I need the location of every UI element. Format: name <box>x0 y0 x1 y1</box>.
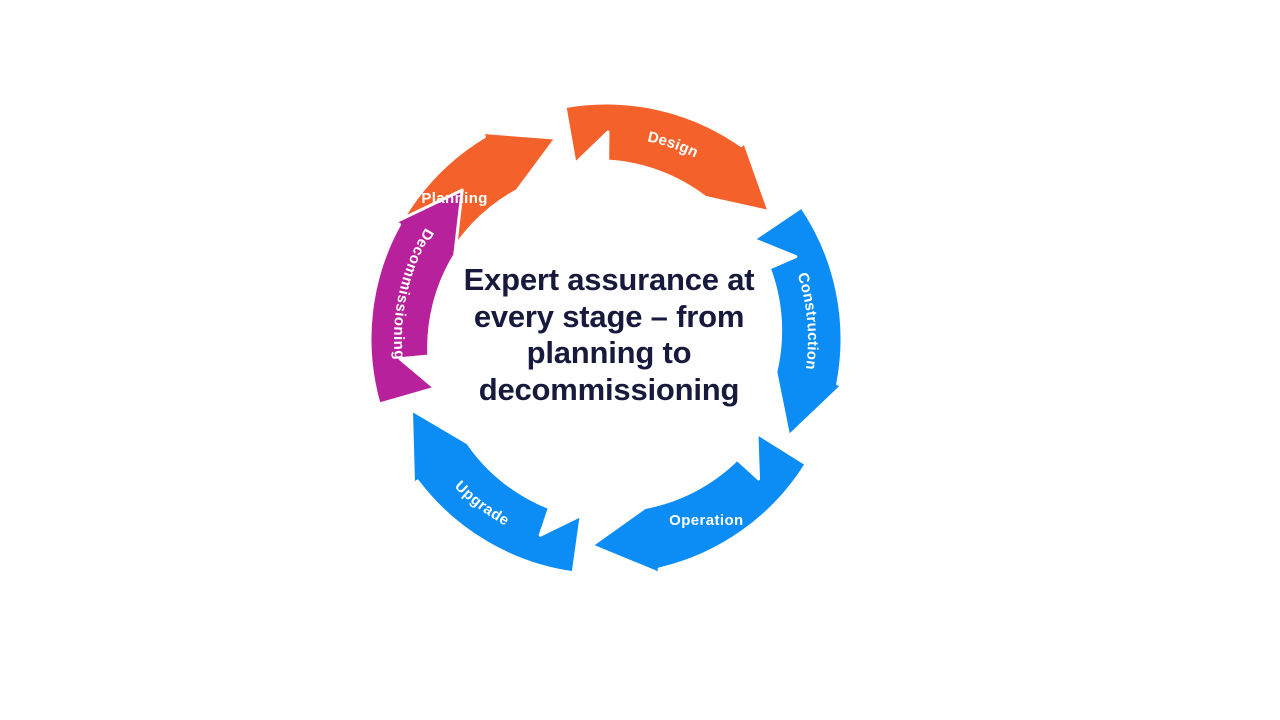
segment-operation[interactable] <box>592 433 807 573</box>
center-headline-line: planning to <box>440 335 778 372</box>
center-headline-line: every stage – from <box>440 299 778 336</box>
center-headline-line: decommissioning <box>440 372 778 409</box>
segment-design[interactable] <box>565 103 769 212</box>
segment-label-operation: Operation <box>669 512 743 529</box>
segment-upgrade[interactable] <box>411 410 581 573</box>
diagram-canvas: PlanningDesignConstructionOperationUpgra… <box>0 0 1280 720</box>
segment-label-planning: Planning <box>421 190 488 207</box>
center-headline: Expert assurance atevery stage – frompla… <box>440 262 778 408</box>
center-headline-line: Expert assurance at <box>440 262 778 299</box>
